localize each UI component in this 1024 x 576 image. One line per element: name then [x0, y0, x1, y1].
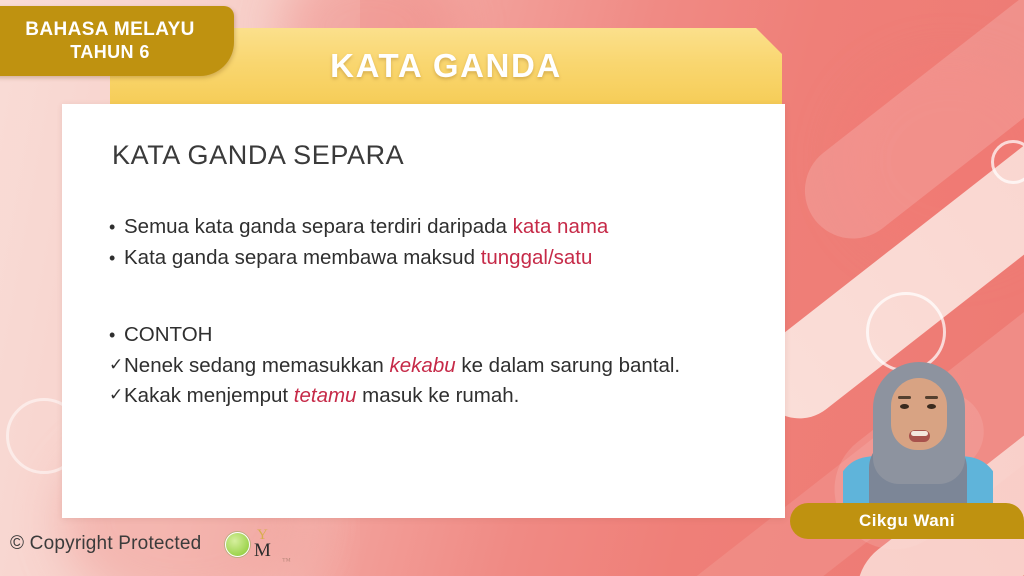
list-item: • Semua kata ganda separa terdiri daripa…: [109, 214, 763, 241]
highlighted-term: tetamu: [294, 384, 357, 407]
list-item-prefix: Kakak menjemput: [124, 384, 294, 407]
list-item-prefix: Nenek sedang memasukkan: [124, 354, 390, 377]
presenter-name-badge: Cikgu Wani: [790, 503, 1024, 539]
monogram-bottom-letter: M: [254, 541, 271, 560]
list-item-prefix: Semua kata ganda separa terdiri daripada: [124, 215, 513, 238]
monogram-logo-icon: Y M: [252, 528, 278, 564]
slide-screenshot: KATA GANDA BAHASA MELAYU TAHUN 6 KATA GA…: [0, 0, 1024, 576]
highlighted-term: kekabu: [390, 354, 456, 377]
check-icon: ✓: [109, 383, 124, 407]
list-item: • CONTOH: [109, 322, 763, 349]
list-item: ✓ Kakak menjemput tetamu masuk ke rumah.: [109, 383, 763, 410]
list-item-suffix: masuk ke rumah.: [356, 384, 519, 407]
presenter-eyebrow: [898, 396, 911, 399]
check-icon: ✓: [109, 353, 124, 377]
bullet-dot-icon: •: [109, 214, 124, 240]
list-item-text: CONTOH: [124, 322, 763, 349]
trademark-watermark: ™: [282, 556, 291, 566]
bullet-list-examples: • CONTOH ✓ Nenek sedang memasukkan kekab…: [109, 322, 763, 414]
list-item-suffix: ke dalam sarung bantal.: [456, 354, 681, 377]
bullet-list-definitions: • Semua kata ganda separa terdiri daripa…: [109, 214, 763, 275]
list-item-text: Nenek sedang memasukkan kekabu ke dalam …: [124, 353, 763, 380]
list-item: ✓ Nenek sedang memasukkan kekabu ke dala…: [109, 353, 763, 380]
green-circle-logo-icon: [225, 532, 250, 557]
presenter-eye: [927, 404, 936, 409]
subject-name: BAHASA MELAYU: [25, 19, 195, 41]
presenter-video: [843, 352, 993, 512]
list-item-text: Semua kata ganda separa terdiri daripada…: [124, 214, 763, 241]
subject-year: TAHUN 6: [70, 42, 149, 63]
slide-content-panel: KATA GANDA SEPARA • Semua kata ganda sep…: [62, 104, 785, 518]
bullet-dot-icon: •: [109, 322, 124, 348]
content-heading: KATA GANDA SEPARA: [112, 140, 404, 171]
list-item-prefix: Kata ganda separa membawa maksud: [124, 246, 481, 269]
list-item: • Kata ganda separa membawa maksud tungg…: [109, 245, 763, 272]
copyright-text: © Copyright Protected: [10, 533, 201, 555]
highlighted-term: tunggal/satu: [481, 246, 593, 269]
presenter-teeth: [911, 431, 928, 436]
bullet-dot-icon: •: [109, 245, 124, 271]
list-item-text: Kakak menjemput tetamu masuk ke rumah.: [124, 383, 763, 410]
highlighted-term: kata nama: [513, 215, 609, 238]
presenter-eyebrow: [925, 396, 938, 399]
list-item-text: Kata ganda separa membawa maksud tunggal…: [124, 245, 763, 272]
subject-badge: BAHASA MELAYU TAHUN 6: [0, 6, 234, 76]
presenter-eye: [900, 404, 909, 409]
presenter-name: Cikgu Wani: [859, 511, 955, 531]
